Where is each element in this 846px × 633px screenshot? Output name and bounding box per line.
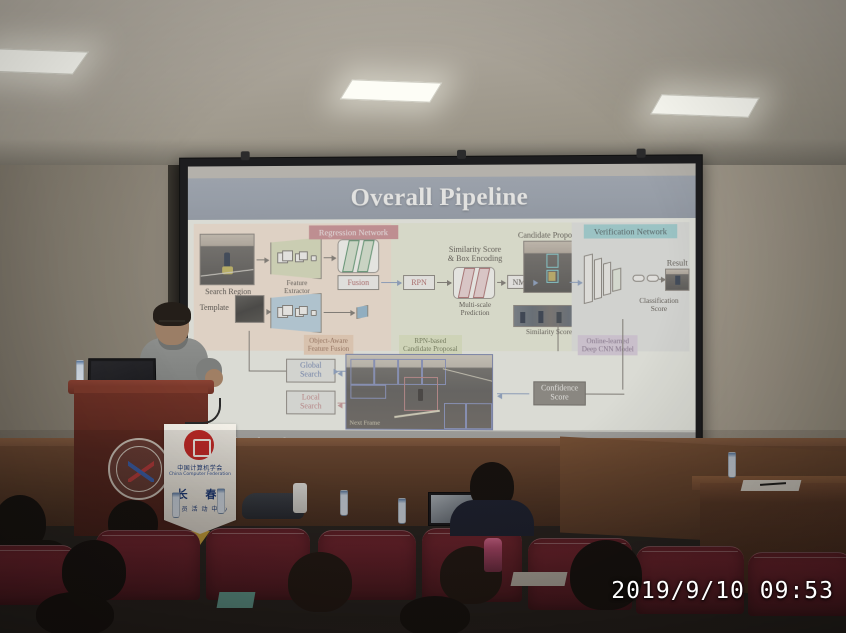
tag-line-2: Deep CNN Model [582,345,634,353]
ceiling [0,0,846,165]
audience-head [288,552,352,612]
arrow-extractor-to-fmaps [324,257,336,258]
tag-line-2: Feature Fusion [308,345,349,353]
confidence-score-box: Confidence Score [533,381,586,405]
pipeline-diagram: Search Region Template Fe [194,222,690,351]
podium-emblem-mark [128,460,154,482]
deep-cnn-stack-icon [584,255,631,303]
feature-extractor-top-icon [270,237,321,279]
podium-emblem-icon [108,438,170,500]
template-thumbnail [235,295,264,323]
global-search-line-2: Search [300,371,322,380]
arrow-fusion-to-rpn [381,282,401,283]
camera-timestamp: 2019/9/10 09:53 [611,578,834,604]
multiscale-prediction-icon [453,267,495,299]
multiscale-feature-maps-icon [338,239,380,273]
confidence-line-2: Score [550,393,568,402]
arrow-cnn-to-result [659,279,665,280]
banner-line-1: 中国计算机学会 [164,463,236,472]
banner-line-2: China Computer Federation [164,472,236,477]
presenter-glasses-icon [159,320,185,325]
water-bottle [217,488,225,514]
ccf-seal-icon [184,430,214,460]
slide-title-bar: Overall Pipeline [188,176,696,220]
feature-extractor-bottom-icon [270,293,321,333]
search-region-thumbnail [200,234,255,286]
slide-body: Search Region Template Fe [188,218,696,432]
water-bottle [398,498,406,524]
label-feature-extractor-line1: Feature [272,279,321,287]
water-bottle [172,492,180,518]
ceiling-light-1-icon [0,48,89,74]
ceiling-light-2-icon [340,79,442,102]
water-bottle [340,490,348,516]
notebook [511,572,568,586]
tracking-loop-row: Global Search Local Search [188,353,696,433]
audience-head [400,596,470,633]
next-frame-thumbnail: Next Frame [345,354,493,430]
screen-mount [241,151,250,160]
presentation-slide: Overall Pipeline Search Re [188,163,696,456]
fusion-box: Fusion [338,275,380,290]
arrow-template-to-extractor [266,311,270,312]
arrow-extractor-to-plate [324,312,355,313]
rpn-box: RPN [403,275,435,290]
tag-line-2: Candidate Proposal [403,345,458,353]
result-thumbnail [665,269,689,291]
arrow-candidate-to-cnn [570,282,582,283]
arrow-conf-feedback [558,323,559,351]
tag-line-1: Online-learned [582,337,634,345]
conference-photo: Overall Pipeline Search Re [0,0,846,633]
screen-mount [637,149,646,158]
ceiling-light-3-icon [650,94,759,117]
table-papers [741,480,802,491]
tag-line-1: Object-Aware [308,337,349,345]
pane-verification: Verification Network Result [572,222,690,351]
projection-screen-frame: Overall Pipeline Search Re [179,154,703,463]
projection-screen: Overall Pipeline Search Re [188,163,696,456]
audience-shoulders [450,500,534,536]
header-verification-network: Verification Network [584,224,677,238]
arrow-prediction-to-nms [497,282,505,283]
arrow-search-to-extractor [257,259,269,260]
pink-bottle [484,538,502,572]
page-title: Overall Pipeline [351,184,529,213]
audience-head [36,592,114,633]
thermos-bottle [293,483,307,513]
label-next-frame: Next Frame [349,420,380,427]
label-classification-score-line1: Classification [628,297,689,305]
label-template: Template [192,303,237,312]
local-search-line-2: Search [300,402,322,411]
arrow-class-feedback [622,319,623,390]
fused-feature-plate-icon [356,305,368,319]
label-similarity-score-line1: Similarity Score [433,245,517,254]
label-multiscale-prediction-line2: Prediction [449,309,501,317]
global-search-box: Global Search [286,359,335,383]
arrow-rpn-to-prediction [437,282,451,283]
label-result: Result [661,258,694,267]
header-regression-network: Regression Network [309,225,398,239]
water-bottle [728,452,736,478]
tag-line-1: RPN-based [403,337,458,345]
laptop-screen [91,361,153,381]
label-multiscale-prediction-line1: Multi-scale [449,301,501,309]
local-search-box: Local Search [286,390,335,414]
pane-regression: Regression Network Fusion RPN Similarity… [391,223,572,352]
screen-mount [457,150,466,159]
label-classification-score-line2: Score [628,305,689,313]
arrow-to-extractor-feedback [249,331,250,371]
teal-folder [217,592,256,608]
label-similarity-score-line2: & Box Encoding [433,254,517,263]
